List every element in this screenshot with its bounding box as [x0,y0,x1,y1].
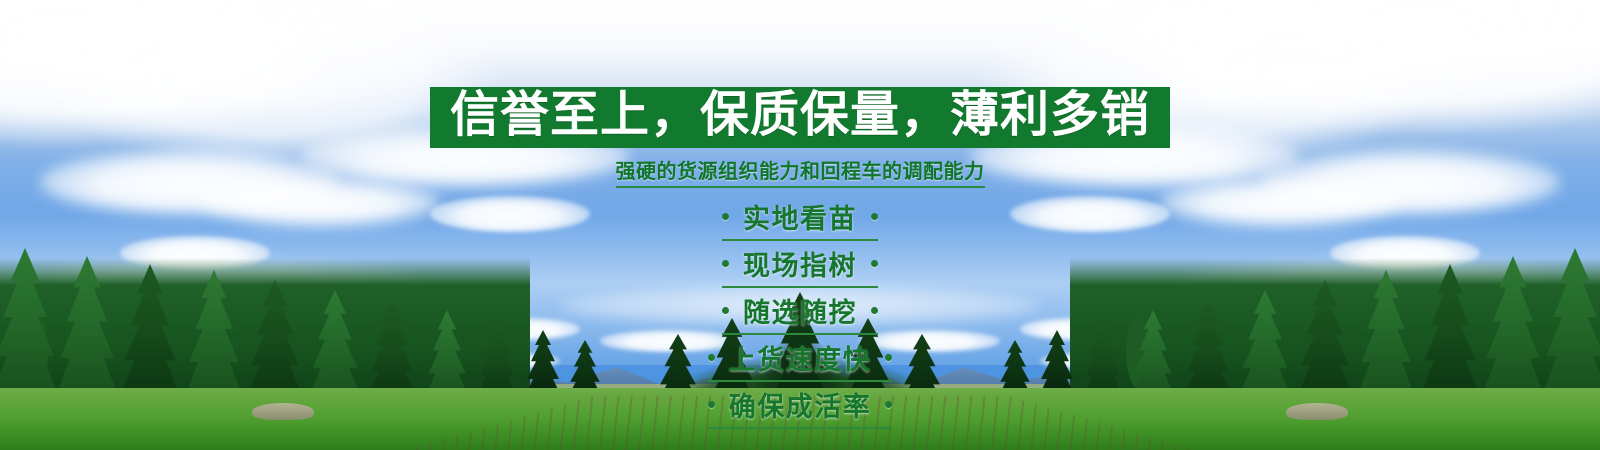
bullet-dot-icon [722,307,729,314]
bullet-dot-icon [871,307,878,314]
promo-banner: 信誉至上，保质保量，薄利多销 强硬的货源组织能力和回程车的调配能力 实地看苗 现… [0,0,1600,450]
bullet-dot-icon [885,354,892,361]
banner-subtitle: 强硬的货源组织能力和回程车的调配能力 [616,155,985,188]
feature-item: 现场指树 [722,244,878,288]
feature-item: 随选随挖 [722,291,878,335]
bullet-dot-icon [722,213,729,220]
banner-content: 信誉至上，保质保量，薄利多销 强硬的货源组织能力和回程车的调配能力 实地看苗 现… [0,0,1600,450]
feature-label: 确保成活率 [729,385,872,424]
feature-label: 上货速度快 [729,338,872,377]
feature-label: 现场指树 [743,244,857,283]
feature-item: 确保成活率 [708,385,893,429]
bullet-dot-icon [708,401,715,408]
feature-item: 上货速度快 [708,338,893,382]
banner-title: 信誉至上，保质保量，薄利多销 [450,91,1150,140]
bullet-dot-icon [722,260,729,267]
bullet-dot-icon [885,401,892,408]
bullet-dot-icon [708,354,715,361]
title-banner-bar: 信誉至上，保质保量，薄利多销 [430,87,1170,148]
feature-label: 随选随挖 [743,291,857,330]
feature-item: 实地看苗 [722,197,878,241]
feature-label: 实地看苗 [743,197,857,236]
feature-list: 实地看苗 现场指树 随选随挖 上货速度快 确保成活率 [708,197,893,432]
bullet-dot-icon [871,213,878,220]
bullet-dot-icon [871,260,878,267]
